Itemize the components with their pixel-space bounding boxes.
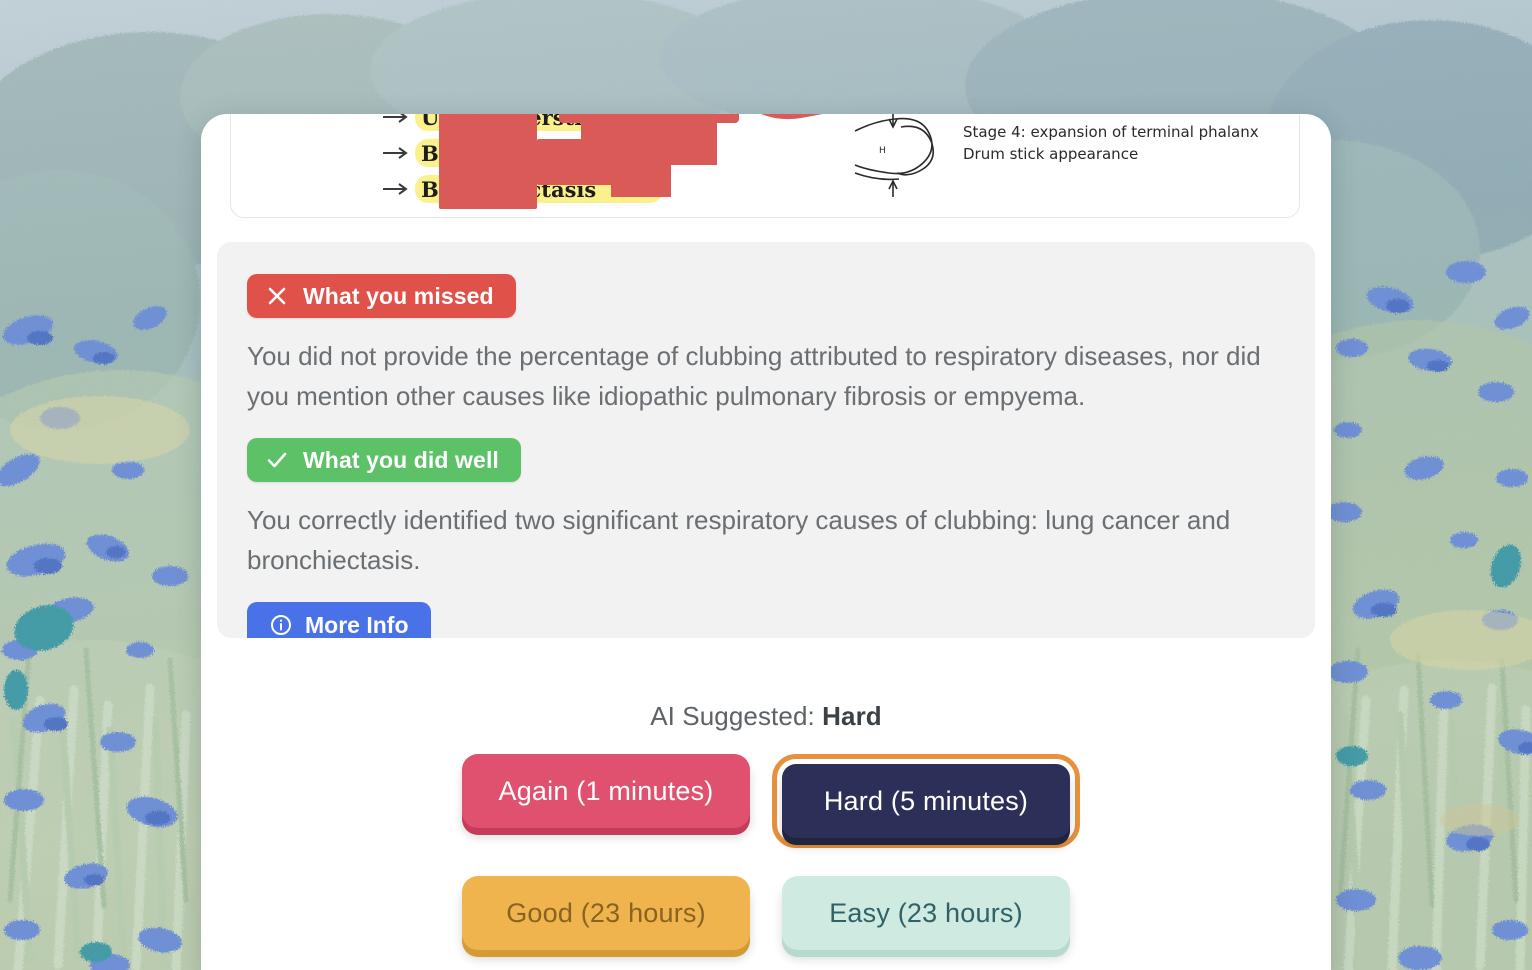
more-info-label: More Info: [305, 614, 409, 637]
svg-text:Stage 4: expansion of terminal: Stage 4: expansion of terminal phalanx: [963, 123, 1259, 141]
feedback-panel: What you missed You did not provide the …: [217, 242, 1315, 638]
rating-section: AI Suggested: Hard Again (1 minutes) Har…: [201, 689, 1331, 970]
rating-cell-easy: Easy (23 hours): [782, 876, 1070, 950]
info-circle-icon: [269, 613, 293, 637]
ai-suggested-prefix: AI Suggested:: [650, 701, 815, 731]
ai-suggested-value: Hard: [822, 701, 882, 731]
feedback-scroll-area[interactable]: What you missed You did not provide the …: [201, 218, 1331, 689]
check-icon: [265, 448, 289, 472]
svg-text:Drum stick appearance: Drum stick appearance: [963, 145, 1138, 163]
media-inner: Carcinoma lung Lung abscess Usual inters…: [259, 114, 1300, 218]
what-you-did-well-badge: What you did well: [247, 438, 521, 482]
what-you-missed-text: You did not provide the percentage of cl…: [247, 336, 1277, 416]
media-frame[interactable]: Carcinoma lung Lung abscess Usual inters…: [230, 114, 1300, 218]
clubbing-stages-diagram: Carcinoma lung Lung abscess Usual inters…: [259, 114, 1300, 218]
svg-text:H: H: [879, 146, 886, 156]
rating-cell-hard: Hard (5 minutes): [782, 754, 1070, 848]
card-media-strip: Carcinoma lung Lung abscess Usual inters…: [201, 114, 1331, 218]
close-x-icon: [265, 284, 289, 308]
what-you-missed-label: What you missed: [303, 285, 494, 308]
what-you-missed-badge: What you missed: [247, 274, 516, 318]
rating-button-easy[interactable]: Easy (23 hours): [782, 876, 1070, 950]
what-you-did-well-label: What you did well: [303, 449, 499, 472]
what-you-did-well-text: You correctly identified two significant…: [247, 500, 1277, 580]
rating-cell-again: Again (1 minutes): [462, 754, 750, 848]
rating-button-hard[interactable]: Hard (5 minutes): [782, 764, 1070, 838]
rating-button-good[interactable]: Good (23 hours): [462, 876, 750, 950]
rating-selected-ring: Hard (5 minutes): [772, 754, 1080, 848]
flashcard-review-card: Carcinoma lung Lung abscess Usual inters…: [201, 114, 1331, 970]
rating-cell-good: Good (23 hours): [462, 876, 750, 950]
more-info-button[interactable]: More Info: [247, 602, 431, 638]
rating-button-again[interactable]: Again (1 minutes): [462, 754, 750, 828]
ai-suggested-line: AI Suggested: Hard: [217, 701, 1315, 732]
rating-button-grid: Again (1 minutes) Hard (5 minutes) Good …: [217, 754, 1315, 950]
